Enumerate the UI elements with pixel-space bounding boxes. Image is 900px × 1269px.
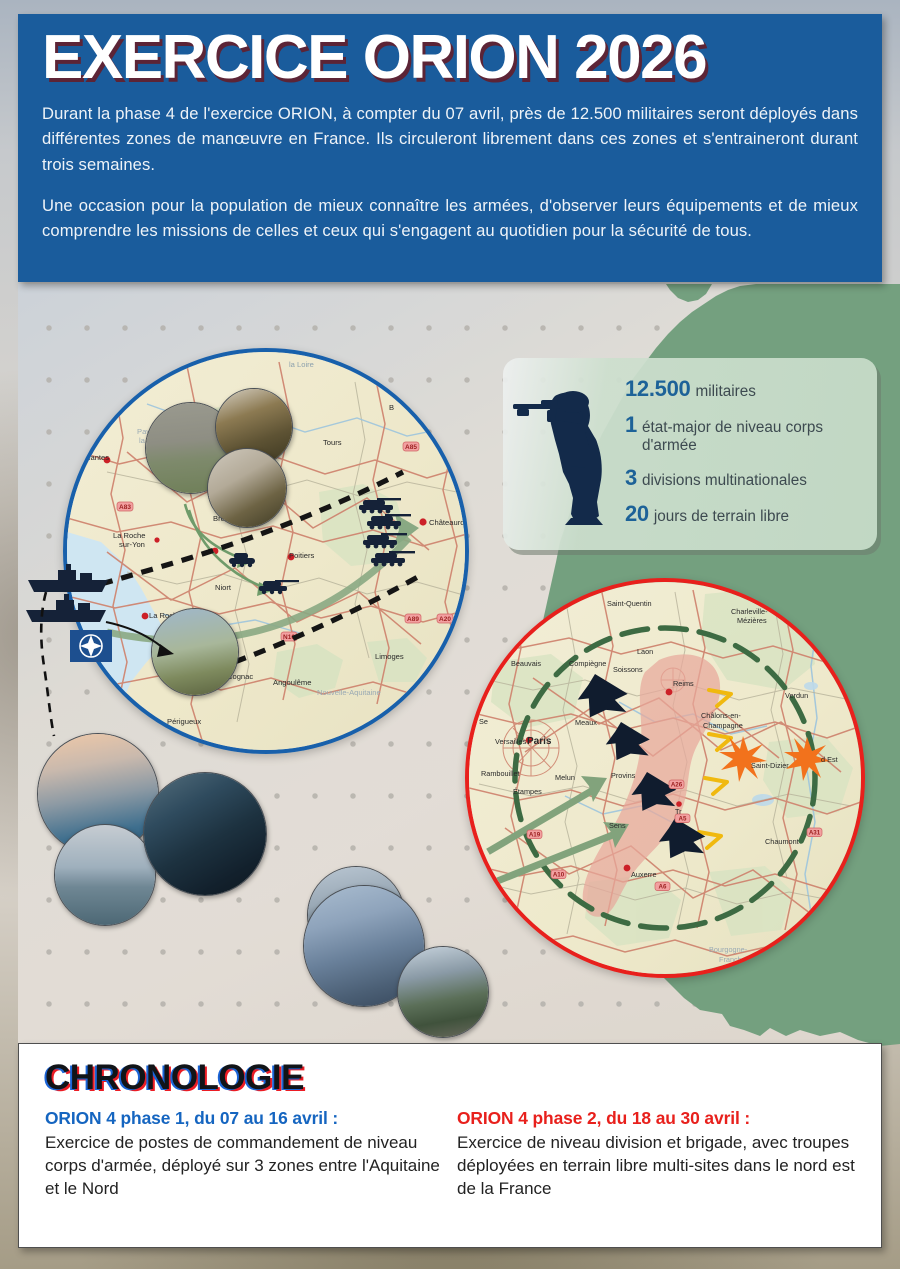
svg-text:Saint-Quentin: Saint-Quentin [607, 599, 652, 608]
svg-text:Chaumont: Chaumont [765, 837, 799, 846]
stat-number-militaires: 12.500 [625, 376, 691, 402]
svg-text:Verdun: Verdun [785, 691, 808, 700]
stat-row-militaires: 12.500 militaires [625, 376, 875, 402]
svg-text:Étampes: Étampes [513, 787, 542, 796]
svg-text:A6: A6 [659, 884, 667, 891]
svg-text:Franche-C: Franche-C [719, 955, 753, 964]
header-paragraph-1: Durant la phase 4 de l'exercice ORION, à… [42, 101, 858, 177]
chronology-heading-phase2: ORION 4 phase 2, du 18 au 30 avril : [457, 1108, 855, 1129]
svg-text:Meaux: Meaux [575, 718, 597, 727]
stats-card: 12.500 militaires 1 état-major de niveau… [503, 358, 877, 550]
svg-text:A31: A31 [809, 830, 821, 837]
svg-text:La Roche: La Roche [113, 531, 146, 540]
svg-text:Beauvais: Beauvais [511, 659, 541, 668]
svg-text:sur-Yon: sur-Yon [119, 540, 145, 549]
page-title: EXERCICE ORION 2026 [42, 26, 858, 89]
svg-text:A20: A20 [439, 616, 451, 623]
map-circle-west-france[interactable]: A83 A10 A85 A20 A89 N10 Nantes Angers To… [63, 348, 469, 754]
svg-text:Rambouillet: Rambouillet [481, 769, 520, 778]
svg-text:Bourgogne-: Bourgogne- [709, 945, 748, 954]
svg-text:Laon: Laon [637, 647, 653, 656]
svg-text:Tours: Tours [323, 438, 342, 447]
svg-text:Sens: Sens [609, 821, 626, 830]
svg-text:Périgueux: Périgueux [167, 717, 201, 726]
chronology-body-phase1: Exercice de postes de commandement de ni… [45, 1131, 443, 1200]
chronology-columns: ORION 4 phase 1, du 07 au 16 avril : Exe… [45, 1108, 855, 1200]
svg-text:A85: A85 [405, 444, 417, 451]
svg-text:Auxerre: Auxerre [631, 870, 657, 879]
svg-text:Provins: Provins [611, 771, 636, 780]
stat-label-etat-major: état-major de niveau corps d'armée [642, 419, 875, 455]
photo-naval-fleet[interactable] [54, 824, 156, 926]
stat-label-divisions: divisions multinationales [642, 472, 807, 490]
stat-label-jours: jours de terrain libre [654, 508, 789, 526]
stat-label-militaires: militaires [696, 383, 756, 401]
svg-text:Compiègne: Compiègne [569, 659, 606, 668]
svg-text:Mézières: Mézières [737, 616, 767, 625]
header-banner: EXERCICE ORION 2026 Durant la phase 4 de… [18, 14, 882, 282]
svg-text:Versailles: Versailles [495, 737, 527, 746]
stat-row-divisions: 3 divisions multinationales [625, 465, 875, 491]
svg-text:la Loire: la Loire [289, 360, 314, 369]
stat-row-etat-major: 1 état-major de niveau corps d'armée [625, 412, 875, 455]
svg-text:d Est: d Est [821, 755, 838, 764]
svg-text:A10: A10 [553, 872, 565, 879]
svg-text:A89: A89 [407, 616, 419, 623]
stat-number-etat-major: 1 [625, 412, 637, 438]
svg-text:Melun: Melun [555, 773, 575, 782]
stat-row-jours: 20 jours de terrain libre [625, 501, 875, 527]
svg-text:Se: Se [479, 717, 488, 726]
photo-urban-training[interactable] [207, 448, 287, 528]
svg-text:Limoges: Limoges [375, 652, 404, 661]
svg-text:B: B [389, 403, 394, 412]
header-paragraph-2: Une occasion pour la population de mieux… [42, 193, 858, 243]
photo-urban-training-image [208, 449, 286, 527]
chronology-body-phase2: Exercice de niveau division et brigade, … [457, 1131, 855, 1200]
svg-text:Tr: Tr [675, 807, 682, 816]
chronology-column-phase2: ORION 4 phase 2, du 18 au 30 avril : Exe… [457, 1108, 855, 1200]
chronology-title: CHRONOLOGIE [45, 1058, 855, 1098]
svg-text:Nantes: Nantes [85, 453, 109, 462]
svg-text:Paris: Paris [527, 736, 552, 747]
svg-text:Champagne: Champagne [703, 721, 743, 730]
photo-helicopter-insertion[interactable] [151, 608, 239, 696]
photo-operations-room[interactable] [143, 772, 267, 896]
svg-text:Poitiers: Poitiers [289, 551, 315, 560]
map-circle-north-east-france[interactable]: A26 A5 A19 A10 A6 A31 Saint-Quentin Laon… [465, 578, 865, 978]
chronology-column-phase1: ORION 4 phase 1, du 07 au 16 avril : Exe… [45, 1108, 443, 1200]
svg-text:Châlons-en-: Châlons-en- [701, 711, 741, 720]
svg-text:Reims: Reims [673, 679, 694, 688]
svg-text:A5: A5 [679, 816, 687, 823]
svg-text:Charleville-: Charleville- [731, 607, 768, 616]
chronology-heading-phase1: ORION 4 phase 1, du 07 au 16 avril : [45, 1108, 443, 1129]
svg-text:A83: A83 [119, 504, 131, 511]
svg-text:Angoulême: Angoulême [273, 678, 311, 687]
stat-number-divisions: 3 [625, 465, 637, 491]
photo-helicopter-insertion-image [152, 609, 238, 695]
svg-text:Saint-Dizier: Saint-Dizier [751, 761, 789, 770]
svg-text:Nouvelle-Aquitaine: Nouvelle-Aquitaine [317, 688, 381, 697]
photo-jet-takeoff-image [398, 947, 488, 1037]
chronology-panel: CHRONOLOGIE ORION 4 phase 1, du 07 au 16… [18, 1043, 882, 1248]
photo-naval-fleet-image [55, 825, 155, 925]
svg-text:A26: A26 [671, 782, 683, 789]
photo-operations-room-image [144, 773, 266, 895]
svg-text:A19: A19 [529, 832, 541, 839]
stats-list: 12.500 militaires 1 état-major de niveau… [625, 376, 875, 527]
photo-jet-takeoff[interactable] [397, 946, 489, 1038]
svg-text:Soissons: Soissons [613, 665, 643, 674]
stat-number-jours: 20 [625, 501, 649, 527]
svg-text:A10: A10 [405, 392, 417, 399]
map-tiles-northeast: A26 A5 A19 A10 A6 A31 Saint-Quentin Laon… [469, 582, 861, 974]
svg-text:Châteauroux: Châteauroux [429, 518, 467, 527]
soldier-silhouette-icon [511, 380, 631, 530]
svg-text:Niort: Niort [215, 583, 232, 592]
